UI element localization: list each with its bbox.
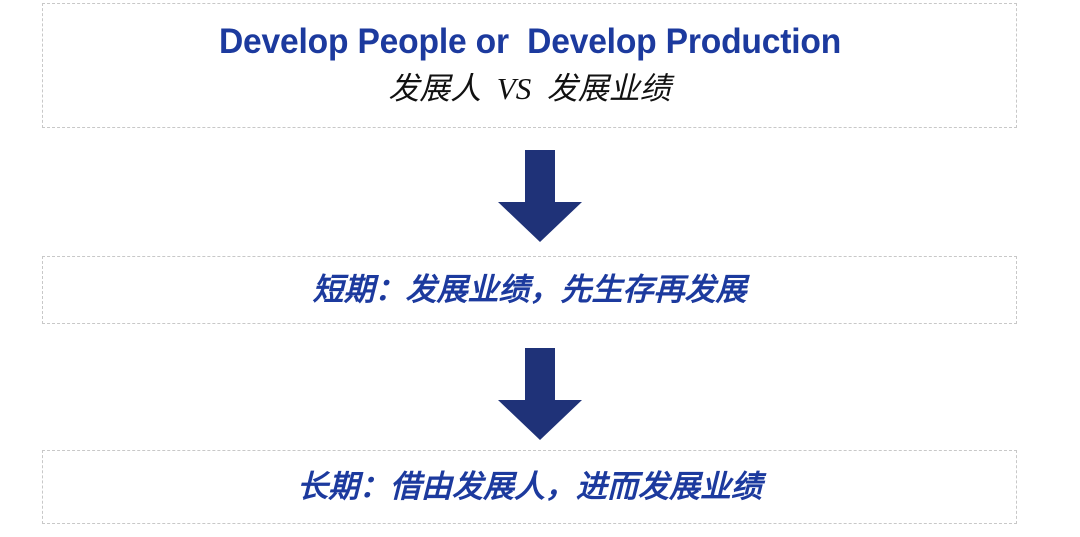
- short-term-box: 短期：发展业绩，先生存再发展: [42, 256, 1017, 324]
- long-term-box: 长期：借由发展人，进而发展业绩: [42, 450, 1017, 524]
- down-arrow-icon: [498, 348, 582, 440]
- short-term-label: 短期：发展业绩，先生存再发展: [313, 271, 747, 308]
- title-box: Develop People or Develop Production 发展人…: [42, 3, 1017, 128]
- page-subtitle: 发展人 VS 发展业绩: [388, 70, 670, 109]
- long-term-label: 长期：借由发展人，进而发展业绩: [297, 468, 762, 505]
- page-title: Develop People or Develop Production: [218, 22, 840, 62]
- down-arrow-icon: [498, 150, 582, 242]
- slide-canvas: Develop People or Develop Production 发展人…: [0, 0, 1080, 537]
